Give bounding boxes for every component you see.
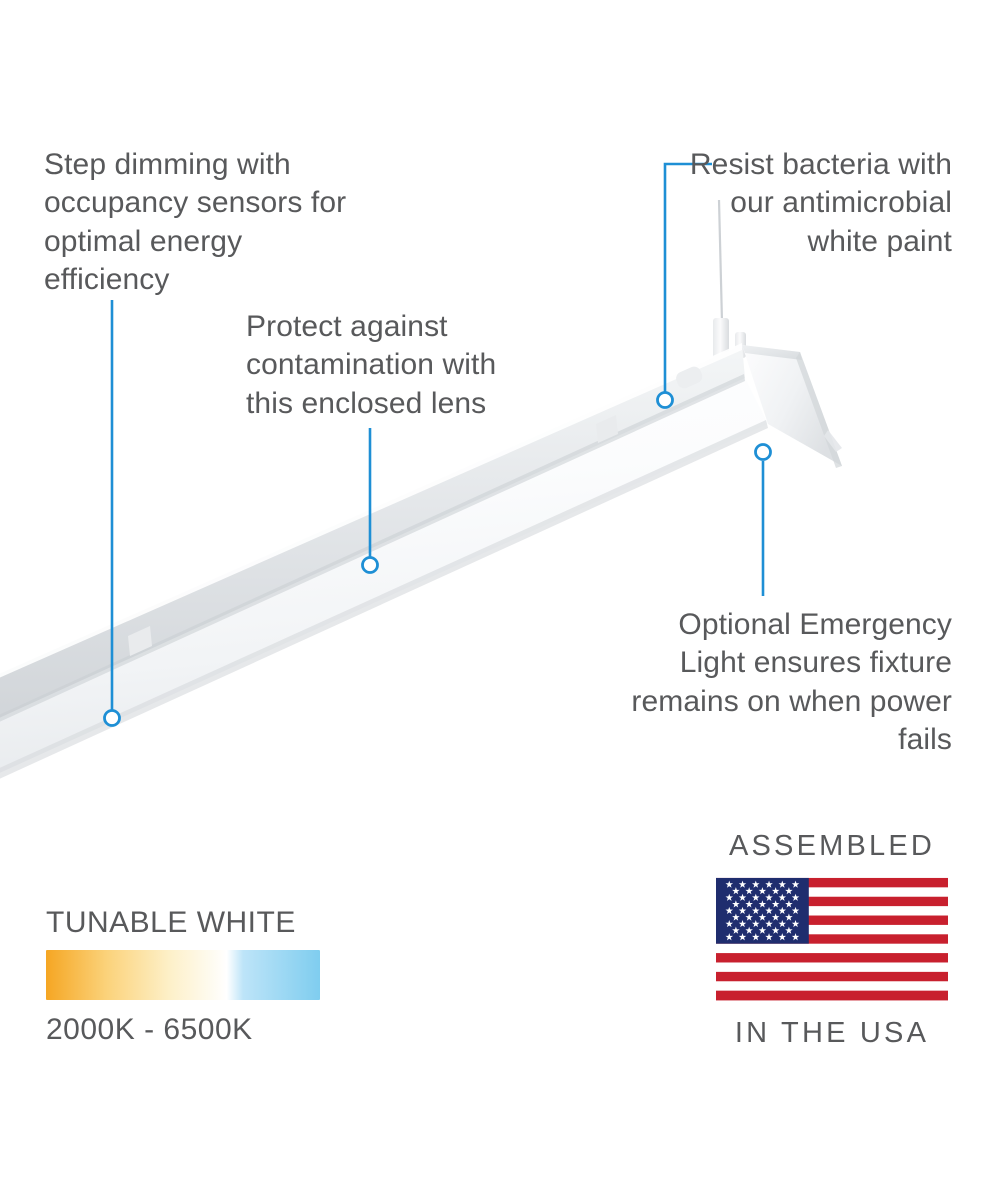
in-the-usa-caption: IN THE USA [712, 1019, 952, 1048]
usa-flag-icon [716, 875, 948, 1003]
assembled-caption: ASSEMBLED [712, 832, 952, 861]
tunable-white-range-label: 2000K - 6500K [46, 1015, 336, 1045]
tunable-white-badge: TUNABLE WHITE 2000K - 6500K [46, 908, 336, 1045]
callout-marker-step-dimming[interactable] [105, 711, 120, 726]
callout-marker-enclosed-lens[interactable] [363, 558, 378, 573]
callout-text-step-dimming: Step dimming with occupancy sensors for … [44, 146, 374, 300]
callout-marker-emergency[interactable] [756, 445, 771, 460]
callout-text-emergency-light: Optional Emergency Light ensures fixture… [622, 606, 952, 760]
tunable-white-title: TUNABLE WHITE [46, 908, 336, 938]
callout-marker-antimicrobial[interactable] [658, 393, 673, 408]
callout-text-enclosed-lens: Protect against contamination with this … [246, 308, 546, 423]
infographic-canvas: Step dimming with occupancy sensors for … [0, 0, 1000, 1200]
assembled-in-usa-badge: ASSEMBLED IN THE USA [712, 832, 952, 1048]
color-temperature-gradient-bar [46, 950, 320, 1000]
callout-text-antimicrobial: Resist bacteria with our antimicrobial w… [672, 146, 952, 261]
